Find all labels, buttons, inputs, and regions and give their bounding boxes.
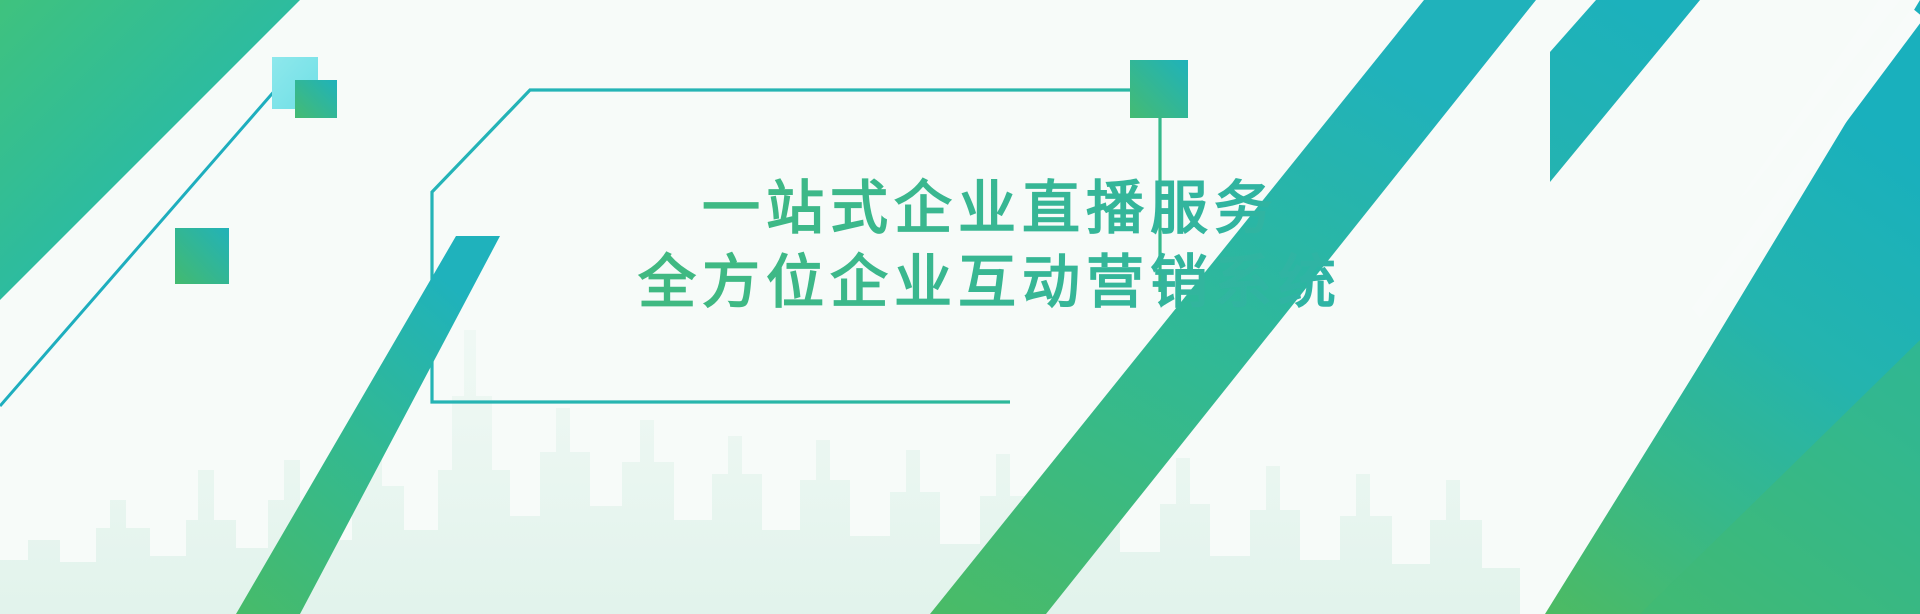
green-teal-square-small xyxy=(295,80,337,118)
green-teal-square-left xyxy=(175,228,229,284)
hero-banner: 一站式企业直播服务 全方位企业互动营销系统 xyxy=(0,0,1920,614)
banner-background-art xyxy=(0,0,1920,614)
green-teal-square-top-right xyxy=(1130,60,1188,118)
